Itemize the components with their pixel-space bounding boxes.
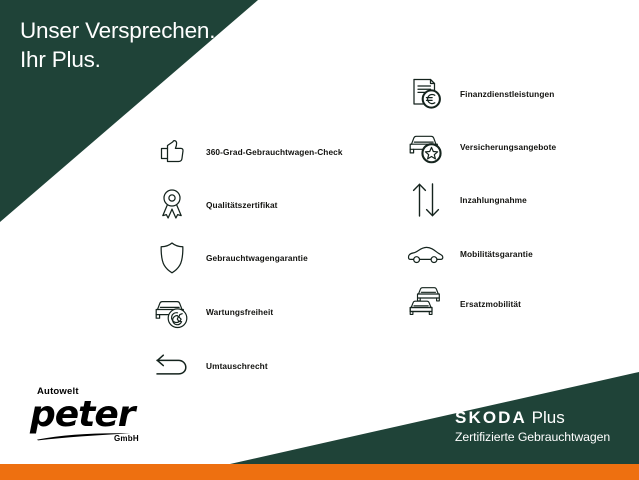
feature-item: Ersatzmobilität bbox=[400, 278, 521, 330]
feature-label: Wartungsfreiheit bbox=[206, 307, 273, 317]
car-wrench-icon bbox=[146, 286, 198, 338]
award-rosette-icon bbox=[146, 179, 198, 231]
brand-name: ŠKODA bbox=[455, 408, 527, 427]
feature-item: Gebrauchtwagengarantie bbox=[146, 232, 308, 284]
brand-plus: Plus bbox=[527, 408, 565, 427]
feature-label: 360-Grad-Gebrauchtwagen-Check bbox=[206, 147, 343, 157]
headline-line-1: Unser Versprechen. bbox=[20, 18, 215, 43]
feature-item: Qualitätszertifikat bbox=[146, 179, 278, 231]
shield-icon bbox=[146, 232, 198, 284]
feature-label: Umtauschrecht bbox=[206, 361, 268, 371]
car-side-icon bbox=[400, 228, 452, 280]
feature-label: Qualitätszertifikat bbox=[206, 200, 278, 210]
feature-label: Inzahlungnahme bbox=[460, 195, 527, 205]
feature-item: Inzahlungnahme bbox=[400, 174, 527, 226]
headline-line-2: Ihr Plus. bbox=[20, 45, 215, 74]
feature-label: Finanzdienstleistungen bbox=[460, 89, 554, 99]
car-star-icon bbox=[400, 121, 452, 173]
feature-label: Ersatzmobilität bbox=[460, 299, 521, 309]
document-euro-icon bbox=[400, 68, 452, 120]
feature-label: Mobilitätsgarantie bbox=[460, 249, 533, 259]
headline: Unser Versprechen. Ihr Plus. bbox=[20, 16, 215, 74]
thumbs-up-icon bbox=[146, 126, 198, 178]
feature-item: Wartungsfreiheit bbox=[146, 286, 273, 338]
dealer-logo: Autowelt peter GmbH bbox=[30, 386, 165, 448]
feature-item: Mobilitätsgarantie bbox=[400, 228, 533, 280]
return-arrow-icon bbox=[146, 340, 198, 392]
orange-bottom-bar bbox=[0, 464, 639, 480]
feature-item: Versicherungsangebote bbox=[400, 121, 556, 173]
feature-label: Versicherungsangebote bbox=[460, 142, 556, 152]
skoda-plus-lockup: ŠKODA Plus Zertifizierte Gebrauchtwagen bbox=[455, 408, 610, 445]
brand-name-row: ŠKODA Plus bbox=[455, 408, 610, 428]
two-cars-icon bbox=[400, 278, 452, 330]
brand-tagline: Zertifizierte Gebrauchtwagen bbox=[455, 429, 610, 445]
up-down-arrows-icon bbox=[400, 174, 452, 226]
promo-banner: Unser Versprechen. Ihr Plus. 360-Grad-Ge… bbox=[0, 0, 639, 480]
feature-item: Finanzdienstleistungen bbox=[400, 68, 554, 120]
dealer-logo-suffix: GmbH bbox=[114, 434, 139, 443]
feature-item: Umtauschrecht bbox=[146, 340, 268, 392]
dealer-logo-name: peter bbox=[30, 394, 135, 435]
feature-item: 360-Grad-Gebrauchtwagen-Check bbox=[146, 126, 343, 178]
feature-label: Gebrauchtwagengarantie bbox=[206, 253, 308, 263]
